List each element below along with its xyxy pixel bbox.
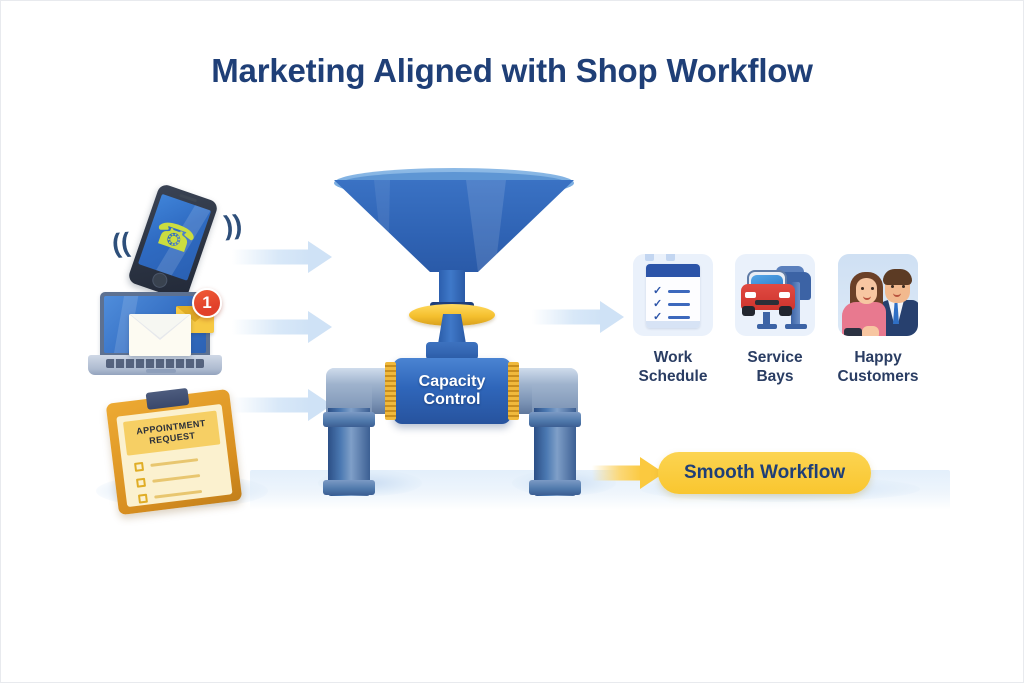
laptop-keyboard (106, 359, 204, 368)
output-label-line1: Happy (835, 348, 921, 367)
checklist-clipboard-icon: ✓ ✓ ✓ (633, 254, 713, 336)
checkbox-icon (136, 478, 146, 488)
notification-badge: 1 (192, 288, 222, 318)
headlight-icon (745, 292, 756, 298)
output-happy-customers[interactable]: Happy Customers (835, 254, 921, 387)
valve-flange-right (508, 362, 519, 420)
output-label-line2: Schedule (630, 367, 716, 386)
output-work-schedule[interactable]: ✓ ✓ ✓ Work Schedule (630, 254, 716, 387)
woman-hand (862, 326, 879, 336)
check-icon: ✓ (653, 286, 662, 297)
pipe-collar (323, 412, 375, 427)
funnel-cone (334, 180, 574, 272)
envelope-icon (129, 314, 191, 356)
valve-label-line1: Capacity (419, 373, 486, 391)
output-service-bays[interactable]: Service Bays (732, 254, 818, 387)
ring-wave-left-icon: (( (111, 229, 132, 258)
input-appointment-request: APPOINTMENT REQUEST (106, 389, 243, 515)
clipboard-title: APPOINTMENT REQUEST (123, 411, 220, 456)
output-label: Service Bays (732, 348, 818, 387)
result-arrow (592, 456, 664, 490)
valve-flange-left (385, 362, 396, 420)
funnel-valve-assembly: Capacity Control (312, 162, 592, 507)
smartphone-icon: ☎ (127, 183, 219, 302)
phone-screen: ☎ (138, 194, 211, 281)
output-label: Work Schedule (630, 348, 716, 387)
binder-clip-icon (666, 254, 675, 261)
output-label-line1: Service (732, 348, 818, 367)
arrow-tail (232, 250, 310, 265)
man-hair (883, 269, 912, 285)
pipe-collar (529, 480, 581, 495)
checkbox-icon (134, 462, 144, 472)
input-email: 1 (86, 292, 236, 384)
valve-label-line2: Control (419, 391, 486, 409)
smiling-couple-icon (838, 254, 918, 336)
outputs-group: ✓ ✓ ✓ Work Schedule (630, 254, 935, 419)
clipboard-icon: APPOINTMENT REQUEST (106, 389, 243, 515)
arrow-tail (232, 320, 310, 335)
car-on-lift-icon (735, 254, 815, 336)
checklist-row: ✓ (653, 286, 690, 297)
man-eye (902, 285, 905, 288)
ring-wave-right-icon: (( (223, 211, 244, 240)
check-icon: ✓ (653, 299, 662, 310)
clipboard-row (136, 471, 201, 488)
pipe-collar (529, 412, 581, 427)
checklist-row: ✓ (653, 299, 690, 310)
text-line (152, 474, 200, 483)
clipboard-paper: APPOINTMENT REQUEST (116, 404, 232, 507)
laptop-trackpad (146, 369, 176, 373)
binder-clip-icon (645, 254, 654, 261)
woman-face (856, 278, 877, 304)
man-eye (891, 285, 894, 288)
text-line (668, 303, 690, 306)
capacity-control-valve: Capacity Control (393, 358, 511, 424)
car-wheel (742, 306, 755, 316)
funnel-highlight (466, 180, 506, 272)
arrow-tail (232, 398, 310, 413)
checklist-row: ✓ (653, 312, 690, 323)
output-arrow-results (532, 300, 624, 334)
clipboard-row (138, 487, 203, 504)
woman-eye (861, 287, 864, 290)
arrow-head (600, 301, 624, 333)
text-line (150, 458, 198, 467)
text-line (668, 290, 690, 293)
headlight-icon (779, 292, 790, 298)
car-wheel (779, 306, 792, 316)
check-icon: ✓ (653, 312, 662, 323)
arrow-tail (532, 310, 602, 325)
woman-eye (871, 287, 874, 290)
funnel-highlight (374, 180, 390, 272)
infographic-canvas: Marketing Aligned with Shop Workflow (( … (0, 0, 1024, 683)
text-line (668, 316, 690, 319)
clipboard-row (134, 455, 199, 472)
car-grille (755, 300, 779, 305)
output-label-line2: Bays (732, 367, 818, 386)
front-lift-base (757, 324, 777, 329)
clipboard-body: ✓ ✓ ✓ (646, 264, 700, 328)
input-phone-call: (( (( ☎ (118, 188, 238, 298)
output-label: Happy Customers (835, 348, 921, 387)
arrow-tail (592, 466, 642, 481)
text-line (154, 490, 202, 499)
handbag-icon (844, 328, 862, 336)
output-label-line1: Work (630, 348, 716, 367)
clipboard-header (646, 264, 700, 277)
checkbox-icon (138, 494, 148, 504)
valve-label: Capacity Control (419, 373, 486, 410)
lift-post-base (785, 324, 807, 329)
page-title: Marketing Aligned with Shop Workflow (0, 52, 1024, 90)
status-badge[interactable]: Smooth Workflow (658, 452, 871, 494)
output-label-line2: Customers (835, 367, 921, 386)
pipe-collar (323, 480, 375, 495)
